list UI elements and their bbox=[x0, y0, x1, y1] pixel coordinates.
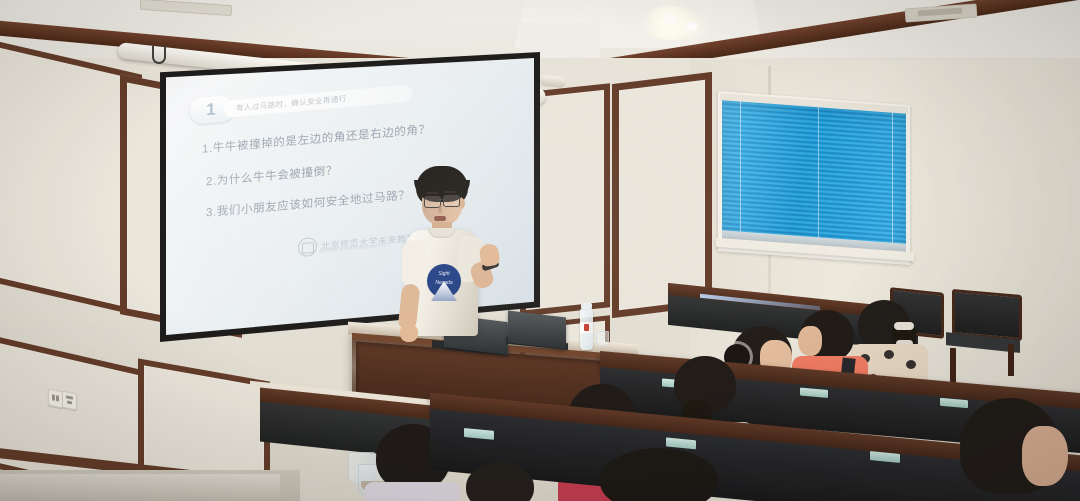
child-7-face bbox=[1022, 426, 1068, 486]
presenter-brow-left bbox=[426, 192, 438, 194]
slide-question-3: 3.我们小朋友应该如何安全地过马路？ bbox=[206, 186, 410, 220]
wall-outlet-1[interactable] bbox=[48, 389, 63, 409]
podium-cup[interactable] bbox=[596, 331, 609, 346]
chair-1-leg-left bbox=[950, 348, 956, 382]
presenter-sleeve-left bbox=[402, 240, 426, 288]
ceiling-light-icon-2 bbox=[685, 22, 698, 31]
presenter-mouth bbox=[434, 216, 446, 221]
shirt-logo-text: Sight Nevada bbox=[432, 270, 456, 279]
child-9-hair bbox=[466, 462, 534, 501]
screen-hook-icon bbox=[152, 46, 166, 64]
child-7 bbox=[960, 398, 1070, 501]
floor-reflection bbox=[0, 474, 280, 501]
ceiling-light-icon bbox=[663, 14, 679, 24]
water-bottle-cap bbox=[581, 303, 592, 309]
wall-panel-frame-6 bbox=[612, 72, 712, 318]
slide-question-1: 1.牛牛被撞掉的是左边的角还是右边的角？ bbox=[202, 121, 431, 157]
glasses-icon-bridge bbox=[438, 199, 444, 200]
presenter-hand-right bbox=[479, 243, 501, 267]
child-9 bbox=[466, 462, 536, 501]
presenter-hand-left bbox=[400, 324, 418, 342]
water-bottle-label-mark bbox=[584, 324, 589, 331]
wall-outlet-2[interactable] bbox=[62, 391, 77, 411]
slide-badge-number: 1 bbox=[204, 98, 218, 121]
slide-question-2: 2.为什么牛牛会被撞倒？ bbox=[206, 162, 338, 190]
child-8 bbox=[600, 448, 720, 501]
window-blinds-shading bbox=[722, 100, 906, 254]
slide-header-text: 有人过马路时，确认安全再通行 bbox=[236, 86, 411, 114]
child-6-hair-tie bbox=[894, 322, 914, 330]
presenter-nose bbox=[438, 205, 442, 213]
child-8-hair bbox=[600, 448, 718, 501]
chair-1-leg-right bbox=[1008, 344, 1014, 376]
presenter: Sight Nevada bbox=[398, 166, 518, 356]
glasses-icon-right-lens bbox=[443, 195, 460, 207]
classroom-photo: 1 有人过马路时，确认安全再通行 1.牛牛被撞掉的是左边的角还是右边的角？ 2.… bbox=[0, 0, 1080, 501]
university-seal-icon bbox=[298, 236, 317, 257]
child-1-top bbox=[364, 482, 460, 501]
presenter-brow-right bbox=[444, 191, 456, 193]
